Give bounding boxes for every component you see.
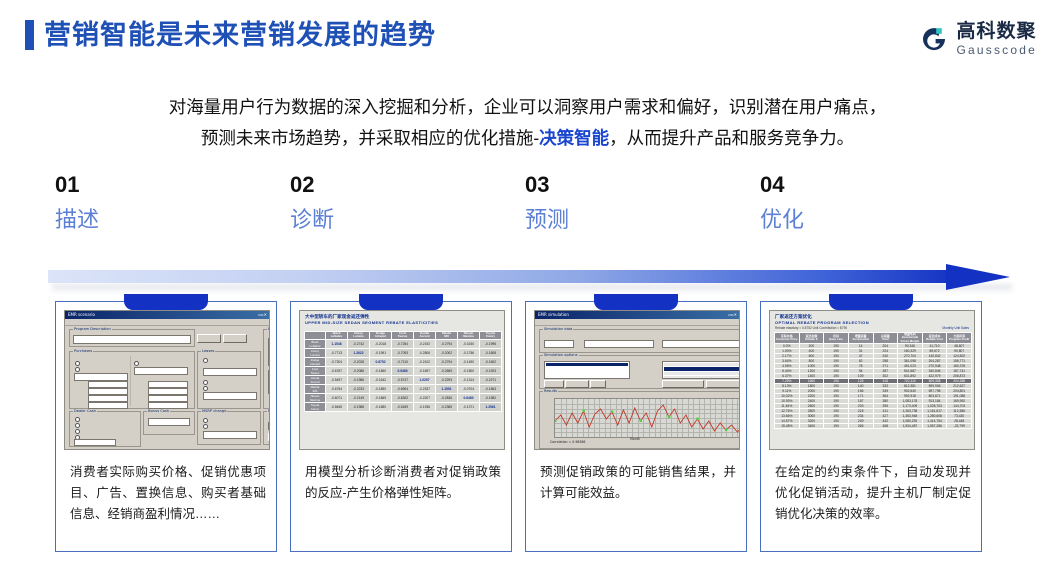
step-02-number: 02	[290, 172, 490, 198]
table-cell: 1,534,487	[898, 423, 923, 428]
matrix-cell: -0.2149	[348, 393, 370, 402]
matrix-cell: -0.2088	[348, 366, 370, 375]
matrix-cell: -0.2806	[414, 348, 436, 357]
group-title: Program Description	[73, 327, 112, 331]
page-header: 营销智能是未来营销发展的趋势 高科数聚 Gausscode	[0, 0, 1051, 72]
group-title: Rebate incentives	[267, 409, 270, 413]
matrix-row-header: Mazda626	[305, 384, 326, 393]
group-title: Leases	[201, 349, 215, 353]
step-01-label: 描述	[55, 205, 255, 235]
step-04: 04 优化	[760, 172, 960, 235]
step-03-label: 预测	[525, 205, 725, 235]
arrow-head-icon	[946, 264, 1010, 290]
matrix-cell: -0.2102	[414, 357, 436, 366]
matrix-cell: -0.2233	[348, 384, 370, 393]
matrix-col-header: DodgeIntrepid	[370, 332, 392, 340]
matrix-col-header: FordTaurus	[392, 332, 414, 340]
table-title-en: OPTIMAL REBATE PROGRAM SELECTION	[775, 320, 869, 325]
matrix-cell: -0.1490	[458, 357, 480, 366]
matrix-cell: -0.7093	[392, 348, 414, 357]
matrix-cell: -0.1602	[480, 357, 502, 366]
matrix-cell: -0.1314	[458, 375, 480, 384]
table-row: ChevyLumina-0.77131.2622-0.1991-0.7093-0…	[305, 348, 502, 357]
matrix-cell: -0.6787	[326, 366, 348, 375]
matrix-cell: -0.6754	[326, 384, 348, 393]
matrix-cell: -0.2794	[436, 357, 458, 366]
card-screenshot-dialog: EMR scenario▫▫✕ Program Description Purc…	[64, 310, 270, 450]
matrix-row-header: DodgeIntrepid	[305, 357, 326, 366]
matrix-row-header: ToyotaCamry	[305, 402, 326, 411]
matrix-cell: -0.6071	[326, 393, 348, 402]
matrix-cell: -0.1991	[370, 348, 392, 357]
matrix-cell: -0.1923	[480, 366, 502, 375]
matrix-cell: -0.1986	[348, 375, 370, 384]
matrix-cell: -0.2794	[436, 339, 458, 348]
table-col-header: 实际价格Customer Price	[775, 333, 800, 344]
matrix-cell: -0.1890	[370, 384, 392, 393]
win-title: EMR scenario	[68, 311, 95, 319]
card-caption: 预测促销政策的可能销售结果，并计算可能效益。	[540, 462, 736, 504]
matrix-cell: -0.1642	[370, 375, 392, 384]
matrix-cell: 1.0257	[414, 375, 436, 384]
matrix-cell: -0.1988	[348, 402, 370, 411]
step-04-number: 04	[760, 172, 960, 198]
logo-text-cn: 高科数聚	[956, 22, 1037, 41]
table-cell: -23,799	[947, 423, 972, 428]
lead-line-2b: ，从而提升产品和服务竞争力。	[609, 128, 854, 148]
matrix-cell: 1.2561	[480, 402, 502, 411]
page-title: 营销智能是未来营销发展的趋势	[44, 18, 436, 52]
matrix-cell: 1.1548	[326, 339, 348, 348]
card-tab	[359, 294, 443, 310]
card-caption: 用模型分析诊断消费者对促销政策的反应-产生价格弹性矩阵。	[305, 462, 501, 504]
table-cell: 265	[848, 423, 873, 428]
table-row: NissanMaxima-0.6071-0.2149-0.1869-0.6302…	[305, 393, 502, 402]
group-title: Simulation data	[543, 327, 573, 331]
matrix-cell: -0.7110	[392, 357, 414, 366]
matrix-cell: -0.2002	[436, 348, 458, 357]
matrix-row-header: HondaAccord	[305, 375, 326, 384]
card-caption: 消费者实际购买价格、促销优惠项目、广告、置换信息、购买者基础信息、经销商盈利情况…	[70, 462, 266, 525]
matrix-cell: 0.8752	[370, 357, 392, 366]
matrix-row-header: FordTaurus	[305, 366, 326, 375]
table-row: HondaAccord-0.5497-0.1986-0.1642-0.57471…	[305, 375, 502, 384]
arrow-bar	[48, 270, 960, 283]
card-tab	[124, 294, 208, 310]
brand-logo: 高科数聚 Gausscode	[919, 18, 1037, 60]
lead-line-2a: 预测未来市场趋势，并采取相应的优化措施-	[201, 128, 539, 148]
table-cell: 458	[873, 423, 898, 428]
matrix-cell: -0.6302	[392, 393, 414, 402]
table-row: BuickLeSabre1.1548-0.2742-0.2018-0.7254-…	[305, 339, 502, 348]
matrix-cell: -0.7254	[392, 339, 414, 348]
table-col-header: 增量毛利Incremental Gross Margin	[898, 333, 923, 344]
matrix-cell: -0.1563	[480, 384, 502, 393]
table-col-header: 折扣Base Line	[824, 333, 849, 344]
matrix-cell: -0.0240	[458, 339, 480, 348]
group-title: Base incentives	[267, 327, 270, 331]
group-title: Simulation options	[543, 353, 579, 357]
group-title: Dealer Cash	[73, 409, 97, 413]
card-screenshot-simulation: EMR simulation▫▫✕ Simulation data Simula…	[534, 310, 740, 450]
matrix-col-header: BuickLeSabre	[326, 332, 348, 340]
card-describe[interactable]: EMR scenario▫▫✕ Program Description Purc…	[55, 301, 277, 552]
lead-line-1: 对海量用户行为数据的深入挖掘和分析，企业可以洞察用户需求和偏好，识别潜在用户痛点…	[169, 97, 887, 117]
matrix-cell: -0.2192	[414, 339, 436, 348]
card-screenshot-matrix: 大中型轿车的厂家现金返还弹性 UPPER MID-SIZE SEDAN SEGM…	[299, 310, 505, 450]
matrix-title-en: UPPER MID-SIZE SEDAN SEGMENT REBATE ELAS…	[305, 320, 438, 325]
step-04-label: 优化	[760, 205, 960, 235]
table-col-header: 增量销量Incremental	[848, 333, 873, 344]
table-note-left: Rebate elasticity = 0.8752 Unit Contribu…	[775, 326, 847, 330]
group-title: Bonus Cash	[147, 409, 170, 413]
table-row: 15.48%34001902654581,534,4871,557,286-23…	[775, 423, 972, 428]
arrow-shadow	[52, 284, 1012, 294]
matrix-cell: -0.1996	[480, 339, 502, 348]
group-title: Results	[543, 389, 558, 393]
matrix-cell: -0.1756	[458, 348, 480, 357]
card-screenshot-table: 厂家返还方案优化 OPTIMAL REBATE PROGRAM SELECTIO…	[769, 310, 975, 450]
matrix-row-header: NissanMaxima	[305, 393, 326, 402]
table-col-header: 返还金额Rebate $	[799, 333, 824, 344]
matrix-col-header: NissanMaxima	[458, 332, 480, 340]
matrix-cell: 0.9480	[392, 366, 414, 375]
matrix-cell: -0.2337	[414, 384, 436, 393]
card-optimize[interactable]: 厂家返还方案优化 OPTIMAL REBATE PROGRAM SELECTIO…	[760, 301, 982, 552]
win-title: EMR simulation	[538, 311, 569, 319]
matrix-cell: -0.2271	[480, 375, 502, 384]
matrix-cell: -0.2028	[348, 357, 370, 366]
matrix-cell: -0.1860	[370, 366, 392, 375]
step-02-label: 诊断	[290, 205, 490, 235]
group-title: MSRP change	[201, 409, 227, 413]
title-accent-bar	[25, 20, 34, 50]
progress-arrow	[48, 264, 1010, 292]
table-row: FordTaurus-0.6787-0.2088-0.18600.9480-0.…	[305, 366, 502, 375]
simulation-line-chart	[555, 399, 740, 437]
matrix-cell: 1.1591	[436, 384, 458, 393]
matrix-cell: -0.2669	[436, 366, 458, 375]
matrix-cell: -0.1500	[458, 366, 480, 375]
table-cell: 190	[824, 423, 849, 428]
matrix-cell: 0.6480	[458, 393, 480, 402]
matrix-cell: -0.2207	[414, 393, 436, 402]
matrix-cell: -0.1697	[414, 366, 436, 375]
table-col-header: 总销量Total	[873, 333, 898, 344]
step-02: 02 诊断	[290, 172, 490, 235]
matrix-cell: -0.2293	[436, 375, 458, 384]
matrix-cell: -0.1808	[480, 348, 502, 357]
matrix-cell: -0.1869	[370, 393, 392, 402]
logo-text-en: Gausscode	[956, 44, 1037, 56]
matrix-cell: -0.5497	[326, 375, 348, 384]
table-note-right: Monthly Unit Sales	[942, 326, 969, 330]
matrix-cell: -0.1371	[458, 402, 480, 411]
group-title: Purchases	[73, 349, 93, 353]
gausscode-logo-icon	[919, 24, 949, 54]
matrix-col-header: HondaAccord	[414, 332, 436, 340]
lead-paragraph: 对海量用户行为数据的深入挖掘和分析，企业可以洞察用户需求和偏好，识别潜在用户痛点…	[50, 92, 1005, 154]
matrix-cell: -0.2018	[370, 339, 392, 348]
step-03-number: 03	[525, 172, 725, 198]
table-cell: 1,557,286	[922, 423, 947, 428]
table-col-header: 方案利润Program Profit	[947, 333, 972, 344]
matrix-cell: -0.2836	[436, 393, 458, 402]
matrix-cell: -0.2742	[348, 339, 370, 348]
matrix-col-header: Mazda626	[436, 332, 458, 340]
matrix-cell: -0.1680	[370, 402, 392, 411]
matrix-cell: -0.5645	[326, 402, 348, 411]
matrix-col-header: ChevyLumina	[348, 332, 370, 340]
correlation-text: Correlation = 0.98366	[550, 440, 585, 444]
table-row: DodgeIntrepid-0.7204-0.20280.8752-0.7110…	[305, 357, 502, 366]
matrix-row-header: ChevyLumina	[305, 348, 326, 357]
card-tab	[829, 294, 913, 310]
matrix-cell: -0.7713	[326, 348, 348, 357]
matrix-cell: -0.5747	[392, 375, 414, 384]
table-cell: 3400	[799, 423, 824, 428]
matrix-cell: -0.6189	[392, 402, 414, 411]
matrix-cell: 1.2622	[348, 348, 370, 357]
step-01-number: 01	[55, 172, 255, 198]
matrix-cell: -0.1982	[480, 393, 502, 402]
step-01: 01 描述	[55, 172, 255, 235]
card-predict[interactable]: EMR simulation▫▫✕ Simulation data Simula…	[525, 301, 747, 552]
table-row: ToyotaCamry-0.5645-0.1988-0.1680-0.6189-…	[305, 402, 502, 411]
matrix-cell: -0.0704	[458, 384, 480, 393]
card-diagnose[interactable]: 大中型轿车的厂家现金返还弹性 UPPER MID-SIZE SEDAN SEGM…	[290, 301, 512, 552]
chart-xlabel: Month	[630, 437, 640, 441]
card-tab	[594, 294, 678, 310]
table-cell: 15.48%	[775, 423, 800, 428]
matrix-col-header: ToyotaCamry	[480, 332, 502, 340]
matrix-cell: -0.1936	[414, 402, 436, 411]
card-caption: 在给定的约束条件下，自动发现并优化促销活动，提升主机厂制定促销优化决策的效率。	[775, 462, 971, 525]
table-col-header: 返还成本Rebate Cost	[922, 333, 947, 344]
table-row: Mazda626-0.6754-0.2233-0.1890-0.6904-0.2…	[305, 384, 502, 393]
matrix-row-header: BuickLeSabre	[305, 339, 326, 348]
step-03: 03 预测	[525, 172, 725, 235]
step-labels: 01 描述 02 诊断 03 预测 04 优化	[0, 172, 1051, 252]
matrix-cell: -0.7204	[326, 357, 348, 366]
matrix-cell: -0.6904	[392, 384, 414, 393]
lead-highlight: 决策智能	[539, 128, 609, 148]
matrix-cell: -0.2385	[436, 402, 458, 411]
